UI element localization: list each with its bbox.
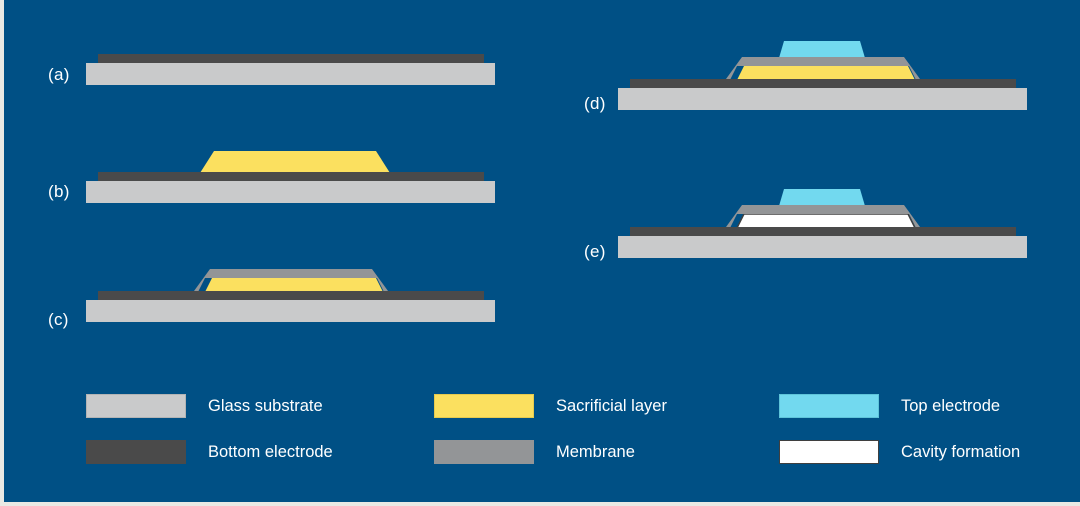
legend-column-1: Glass substrate Bottom electrode [86, 390, 416, 470]
legend-label: Top electrode [901, 398, 1000, 415]
panel-b-sacrificial-layer [200, 151, 390, 173]
legend-item-glass-substrate: Glass substrate [86, 394, 323, 418]
legend-label: Glass substrate [208, 398, 323, 415]
legend-column-3: Top electrode Cavity formation [779, 390, 1080, 470]
panel-b-bottom-electrode [98, 172, 484, 181]
panel-c-label: (c) [48, 311, 69, 328]
sacrificial-layer-swatch [434, 394, 534, 418]
panel-b-glass-substrate [86, 181, 495, 203]
legend-item-cavity-formation: Cavity formation [779, 440, 1020, 464]
panel-d-bottom-electrode [630, 79, 1016, 88]
panel-d-top-electrode [779, 41, 865, 58]
panel-d-label: (d) [584, 95, 606, 112]
panel-b-label: (b) [48, 183, 70, 200]
legend-column-2: Sacrificial layer Membrane [434, 390, 764, 470]
panel-a-glass-substrate [86, 63, 495, 85]
legend-label: Membrane [556, 444, 635, 461]
legend-item-top-electrode: Top electrode [779, 394, 1000, 418]
panel-a-label: (a) [48, 66, 70, 83]
panel-e-label: (e) [584, 243, 606, 260]
panel-a-bottom-electrode [98, 54, 484, 63]
legend-item-bottom-electrode: Bottom electrode [86, 440, 333, 464]
top-electrode-swatch [779, 394, 879, 418]
panel-e-top-electrode [779, 189, 865, 206]
membrane-swatch [434, 440, 534, 464]
panel-e-glass-substrate [618, 236, 1027, 258]
figure-canvas: (a) (b) (c) [4, 0, 1080, 502]
glass-substrate-swatch [86, 394, 186, 418]
legend-item-membrane: Membrane [434, 440, 635, 464]
legend: Glass substrate Bottom electrode Sacrifi… [86, 390, 1046, 470]
process-flow-figure: (a) (b) (c) [0, 0, 1080, 506]
legend-label: Cavity formation [901, 444, 1020, 461]
panel-c-bottom-electrode [98, 291, 484, 300]
panel-c-glass-substrate [86, 300, 495, 322]
panel-d-glass-substrate [618, 88, 1027, 110]
panel-e-bottom-electrode [630, 227, 1016, 236]
bottom-electrode-swatch [86, 440, 186, 464]
cavity-formation-swatch [779, 440, 879, 464]
legend-label: Sacrificial layer [556, 398, 667, 415]
legend-label: Bottom electrode [208, 444, 333, 461]
legend-item-sacrificial-layer: Sacrificial layer [434, 394, 667, 418]
